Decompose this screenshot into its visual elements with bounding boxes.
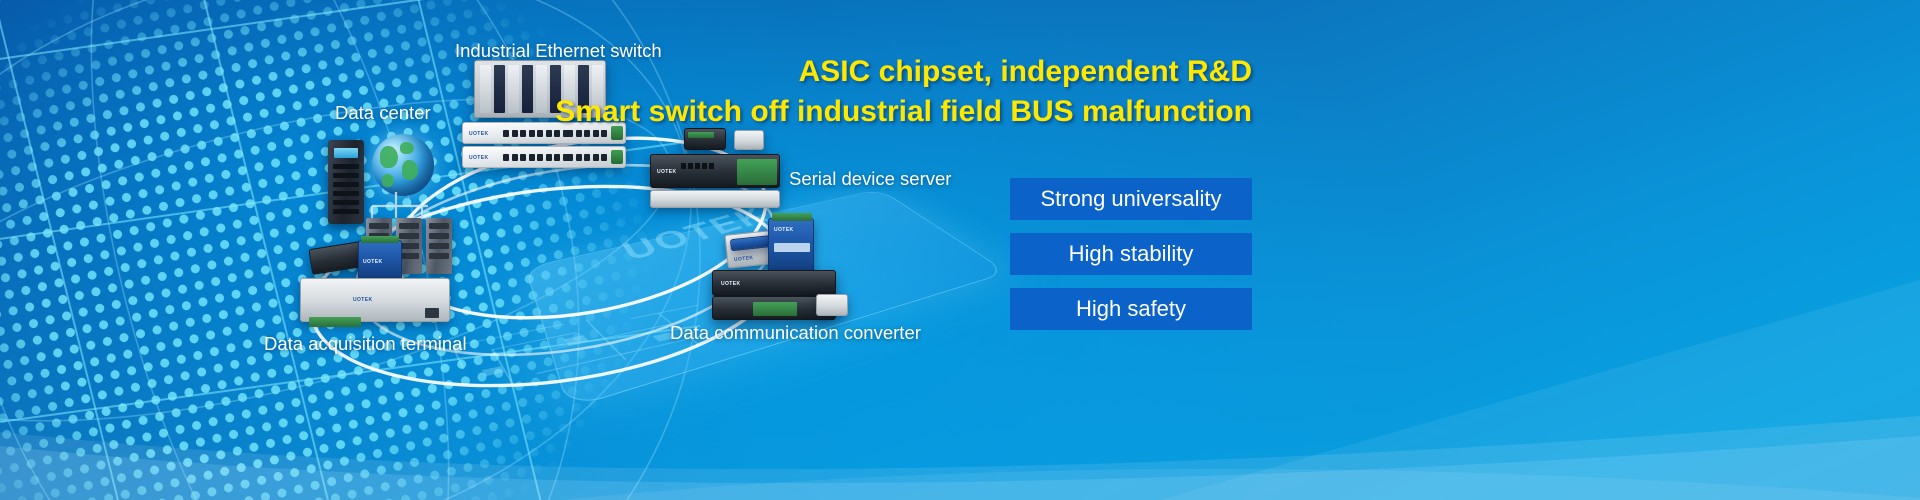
feature-list: Strong universality High stability High …: [1010, 178, 1252, 343]
feature-strong-universality[interactable]: Strong universality: [1010, 178, 1252, 220]
sds-lower-chassis: [650, 190, 780, 208]
dcc-dark-brand-label: UOTEK: [721, 281, 741, 287]
label-data-center: Data center: [335, 102, 431, 124]
globe-earth-icon: [372, 134, 434, 196]
label-serial-device-server: Serial device server: [789, 168, 951, 190]
dcc-blue-converter: UOTEK: [768, 218, 814, 274]
data-center-rack: [328, 140, 364, 224]
dcc-end-adapter: [816, 294, 848, 316]
headline-block: ASIC chipset, independent R&D Smart swit…: [555, 52, 1252, 132]
headline-line-1: ASIC chipset, independent R&D: [555, 52, 1252, 92]
dat-unit-brand-label: UOTEK: [353, 297, 373, 303]
feature-high-safety[interactable]: High safety: [1010, 288, 1252, 330]
dat-brand-label: UOTEK: [363, 259, 383, 265]
feature-high-stability[interactable]: High stability: [1010, 233, 1252, 275]
data-communication-converter-illustration: UOTEK UOTEK UOTEK: [712, 218, 862, 328]
switch-brand-label: UOTEK: [469, 155, 489, 161]
sds-main-chassis: UOTEK: [650, 154, 780, 188]
serial-device-server-illustration: UOTEK: [650, 128, 790, 210]
dcc-brand-label: UOTEK: [734, 255, 754, 263]
dcc-blue-brand-label: UOTEK: [774, 227, 794, 233]
sds-brand-label: UOTEK: [657, 169, 677, 175]
product-banner: UOTEK: [0, 0, 1920, 500]
sds-side-module: [734, 130, 764, 150]
dat-blue-module: UOTEK: [358, 240, 402, 280]
switch-brand-label: UOTEK: [469, 131, 489, 137]
data-acquisition-terminal-illustration: UOTEK UOTEK: [300, 240, 460, 340]
headline-line-2: Smart switch off industrial field BUS ma…: [555, 92, 1252, 132]
dat-main-unit: UOTEK: [300, 278, 450, 322]
dcc-dark-unit-top: UOTEK: [712, 270, 836, 296]
label-data-acquisition-terminal: Data acquisition terminal: [264, 333, 467, 355]
data-center-illustration: [328, 134, 458, 234]
rack-display: [334, 148, 358, 158]
rackmount-switch-bottom: UOTEK: [462, 146, 626, 168]
label-data-communication-converter: Data communication converter: [670, 322, 921, 344]
